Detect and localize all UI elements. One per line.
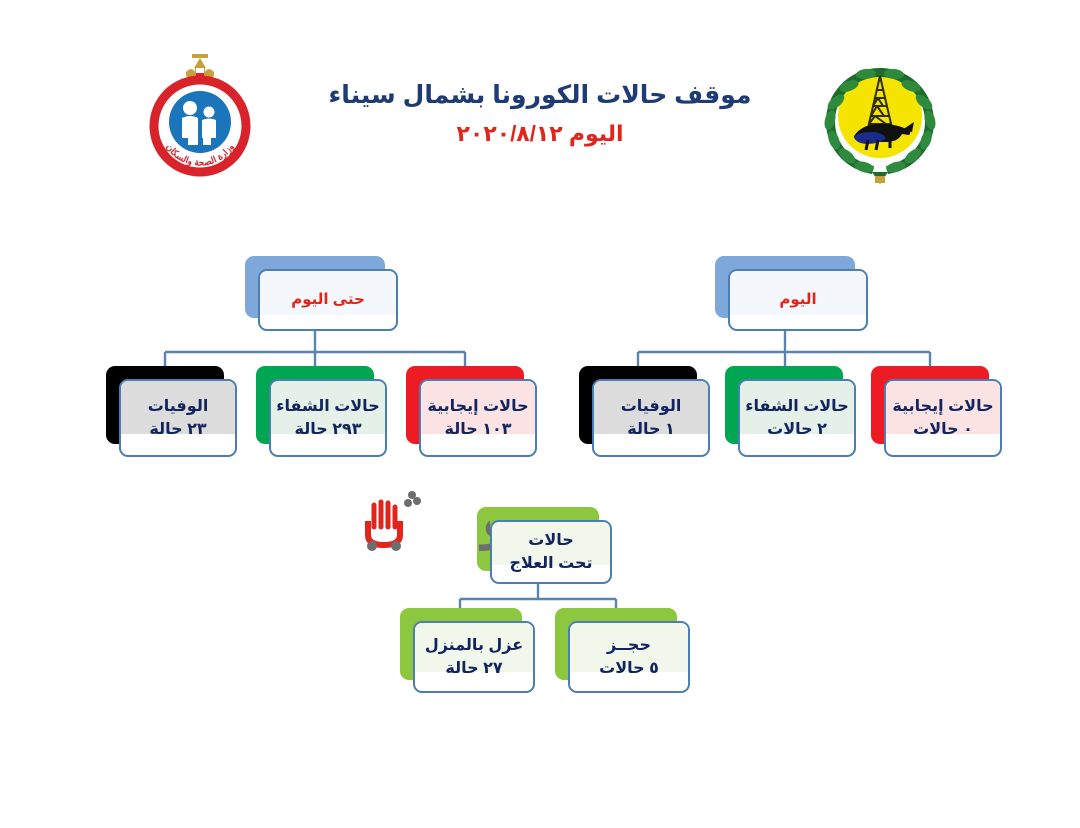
- node-label: حالات: [492, 529, 610, 552]
- tree-today: اليوم حالات إيجابية ٠ حالات حالات الشفاء…: [565, 248, 1005, 463]
- node-value: ١٠٣ حالة: [421, 418, 535, 441]
- card-front: حتى اليوم: [258, 269, 398, 331]
- ministry-of-health-logo: وزارة الصحة والسكان: [146, 46, 254, 184]
- node-cumulative-root[interactable]: حتى اليوم: [245, 256, 385, 318]
- node-value: ٢٣ حالة: [121, 418, 235, 441]
- card-text: الوفيات ١ حالة: [594, 395, 708, 441]
- node-value: ٠ حالات: [886, 418, 1000, 441]
- hand-basket-icon: [367, 491, 421, 551]
- card-text: حالات تحت العلاج: [492, 529, 610, 575]
- node-label: حتى اليوم: [260, 289, 396, 311]
- infographic-page: وزارة الصحة والسكان موقف حالات الكورونا …: [0, 0, 1080, 828]
- card-text: حالات الشفاء ٢٩٣ حالة: [271, 395, 385, 441]
- node-label: حالات إيجابية: [886, 395, 1000, 418]
- card-front: اليوم: [728, 269, 868, 331]
- card-text: حتى اليوم: [260, 289, 396, 311]
- node-sublabel: تحت العلاج: [492, 552, 610, 575]
- card-text: اليوم: [730, 289, 866, 311]
- node-value: ٢ حالات: [740, 418, 854, 441]
- card-front: حالات الشفاء ٢ حالات: [738, 379, 856, 457]
- node-cumulative-deaths[interactable]: الوفيات ٢٣ حالة: [106, 366, 224, 444]
- node-treatment-root[interactable]: حالات تحت العلاج: [477, 507, 599, 571]
- card-text: حالات إيجابية ٠ حالات: [886, 395, 1000, 441]
- card-front: الوفيات ١ حالة: [592, 379, 710, 457]
- page-title: موقف حالات الكورونا بشمال سيناء: [300, 80, 780, 111]
- node-label: الوفيات: [121, 395, 235, 418]
- card-front: حالات إيجابية ١٠٣ حالة: [419, 379, 537, 457]
- node-label: حالات الشفاء: [271, 395, 385, 418]
- node-cumulative-recovered[interactable]: حالات الشفاء ٢٩٣ حالة: [256, 366, 374, 444]
- node-label: حالات إيجابية: [421, 395, 535, 418]
- title-block: موقف حالات الكورونا بشمال سيناء اليوم ٢٠…: [300, 80, 780, 147]
- node-label: حالات الشفاء: [740, 395, 854, 418]
- node-today-root[interactable]: اليوم: [715, 256, 855, 318]
- node-label: عزل بالمنزل: [415, 634, 533, 657]
- node-today-deaths[interactable]: الوفيات ١ حالة: [579, 366, 697, 444]
- card-text: عزل بالمنزل ٢٧ حالة: [415, 634, 533, 680]
- card-text: حالات الشفاء ٢ حالات: [740, 395, 854, 441]
- tree-cumulative: حتى اليوم حالات إيجابية ١٠٣ حالة حالات ا…: [95, 248, 535, 463]
- node-label: الوفيات: [594, 395, 708, 418]
- card-front: حالات إيجابية ٠ حالات: [884, 379, 1002, 457]
- north-sinai-governorate-logo: [816, 52, 944, 188]
- card-text: الوفيات ٢٣ حالة: [121, 395, 235, 441]
- card-front: حجــز ٥ حالات: [568, 621, 690, 693]
- node-label: حجــز: [570, 634, 688, 657]
- node-today-recovered[interactable]: حالات الشفاء ٢ حالات: [725, 366, 843, 444]
- node-label: اليوم: [730, 289, 866, 311]
- report-date: اليوم ٢٠٢٠/٨/١٢: [300, 121, 780, 147]
- card-front: حالات الشفاء ٢٩٣ حالة: [269, 379, 387, 457]
- node-cumulative-positive[interactable]: حالات إيجابية ١٠٣ حالة: [406, 366, 524, 444]
- card-text: حالات إيجابية ١٠٣ حالة: [421, 395, 535, 441]
- node-treatment-home-isolation[interactable]: عزل بالمنزل ٢٧ حالة: [400, 608, 522, 680]
- card-text: حجــز ٥ حالات: [570, 634, 688, 680]
- node-value: ١ حالة: [594, 418, 708, 441]
- node-value: ٢٧ حالة: [415, 657, 533, 680]
- card-front: حالات تحت العلاج: [490, 520, 612, 584]
- card-front: عزل بالمنزل ٢٧ حالة: [413, 621, 535, 693]
- card-front: الوفيات ٢٣ حالة: [119, 379, 237, 457]
- node-value: ٢٩٣ حالة: [271, 418, 385, 441]
- node-treatment-hospital[interactable]: حجــز ٥ حالات: [555, 608, 677, 680]
- watermark-text: قـ ـتو: [478, 489, 490, 552]
- node-value: ٥ حالات: [570, 657, 688, 680]
- node-today-positive[interactable]: حالات إيجابية ٠ حالات: [871, 366, 989, 444]
- watermark-logo: قـ ـتو: [310, 487, 490, 557]
- header: وزارة الصحة والسكان موقف حالات الكورونا …: [0, 0, 1080, 200]
